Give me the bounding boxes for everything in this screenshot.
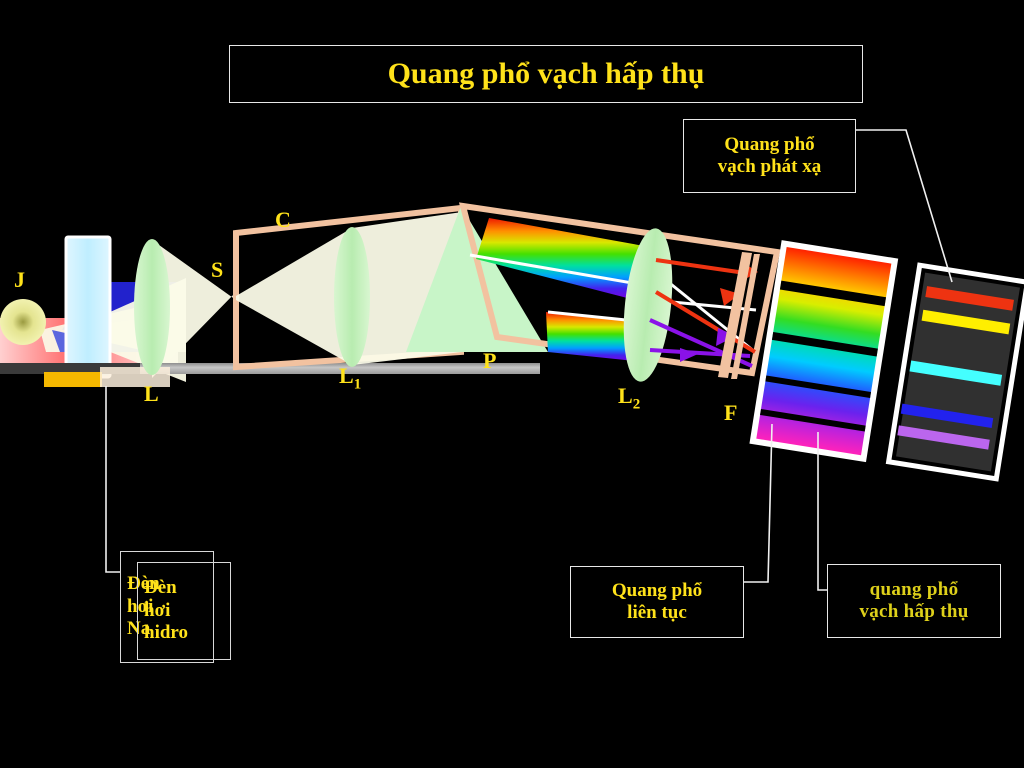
callout-absorption-line1: quang phổ <box>870 579 959 601</box>
leader-continuous <box>742 424 772 582</box>
callout-continuous-line2: liên tục <box>627 602 687 624</box>
label-lens-L: L <box>144 381 159 407</box>
bench-base-plate-2 <box>66 372 102 387</box>
callout-absorption-line2: vạch hấp thụ <box>859 601 968 623</box>
callout-hidro-line3: hidro <box>144 622 188 644</box>
light-source-J <box>0 299 46 345</box>
lens-L1 <box>334 227 370 367</box>
violet-arrowhead-2 <box>680 348 698 362</box>
emission-spectrum-screen[interactable] <box>886 262 1024 481</box>
callout-emission-spectrum[interactable]: Quang phổ vạch phát xạ <box>683 119 856 193</box>
label-lens-L2: L2 <box>618 383 640 413</box>
callout-emission-line2: vạch phát xạ <box>718 156 821 178</box>
callout-lamp-hydrogen[interactable]: Đèn hơi hidro <box>137 562 231 660</box>
callout-hidro-line1: Đèn <box>144 577 177 599</box>
callout-hidro-line2: hơi <box>144 600 170 622</box>
gas-tube <box>66 237 110 377</box>
label-prism-P: P <box>483 348 496 374</box>
label-collimator-C: C <box>275 207 291 233</box>
bench-base-fade <box>100 367 170 387</box>
callout-continuous-line1: Quang phổ <box>612 580 702 602</box>
label-focal-F: F <box>724 400 737 426</box>
label-lens-L1: L1 <box>339 363 361 393</box>
label-source-J: J <box>14 267 25 293</box>
callout-continuous-spectrum[interactable]: Quang phổ liên tục <box>570 566 744 638</box>
slide-canvas: Quang phổ vạch hấp thụ Quang phổ vạch ph… <box>0 0 1024 768</box>
lens-L <box>134 239 170 375</box>
title-text: Quang phổ vạch hấp thụ <box>388 56 705 91</box>
callout-absorption-spectrum[interactable]: quang phổ vạch hấp thụ <box>827 564 1001 638</box>
leader-lamp <box>106 386 120 572</box>
slide-title: Quang phổ vạch hấp thụ <box>229 45 863 103</box>
callout-emission-line1: Quang phổ <box>724 134 814 156</box>
label-slit-S: S <box>211 257 223 283</box>
